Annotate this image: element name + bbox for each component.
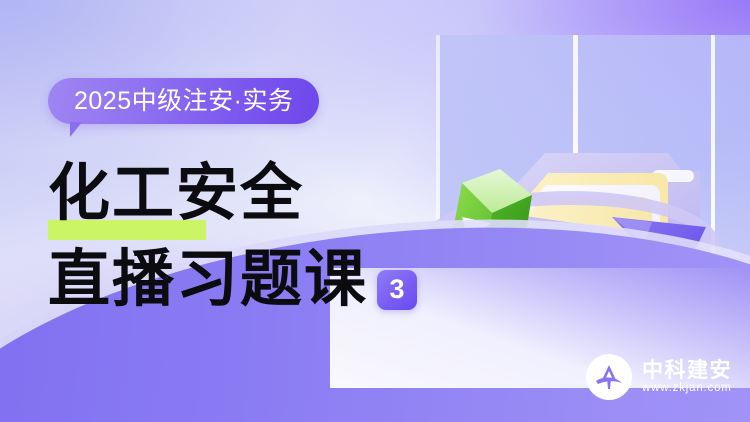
course-badge-pill: 2025中级注安·实务 [48, 78, 319, 124]
course-badge: 2025中级注安·实务 [48, 78, 319, 124]
brand-logo: 中科建安 www.zkjan.com [586, 354, 732, 400]
course-promo-banner: 2025中级注安·实务 化工安全 直播习题课 3 中科建安 www.zkjan.… [0, 0, 750, 422]
headline-line2: 直播习题课 [48, 240, 368, 322]
headline-line1-wrapper: 化工安全 [48, 154, 304, 236]
course-badge-tail [70, 122, 92, 137]
logo-website-url: www.zkjan.com [642, 383, 732, 395]
headline-line1: 化工安全 [48, 154, 304, 236]
logo-text-block: 中科建安 www.zkjan.com [642, 360, 732, 395]
zkjan-logo-icon [592, 360, 626, 394]
headline-block: 化工安全 直播习题课 3 [48, 154, 468, 322]
logo-mark-circle [586, 354, 632, 400]
episode-number-badge: 3 [377, 270, 417, 310]
headline-line2-wrapper: 直播习题课 3 [48, 240, 468, 322]
logo-company-name: 中科建安 [642, 360, 732, 381]
course-badge-label: 2025中级注安·实务 [74, 89, 293, 114]
